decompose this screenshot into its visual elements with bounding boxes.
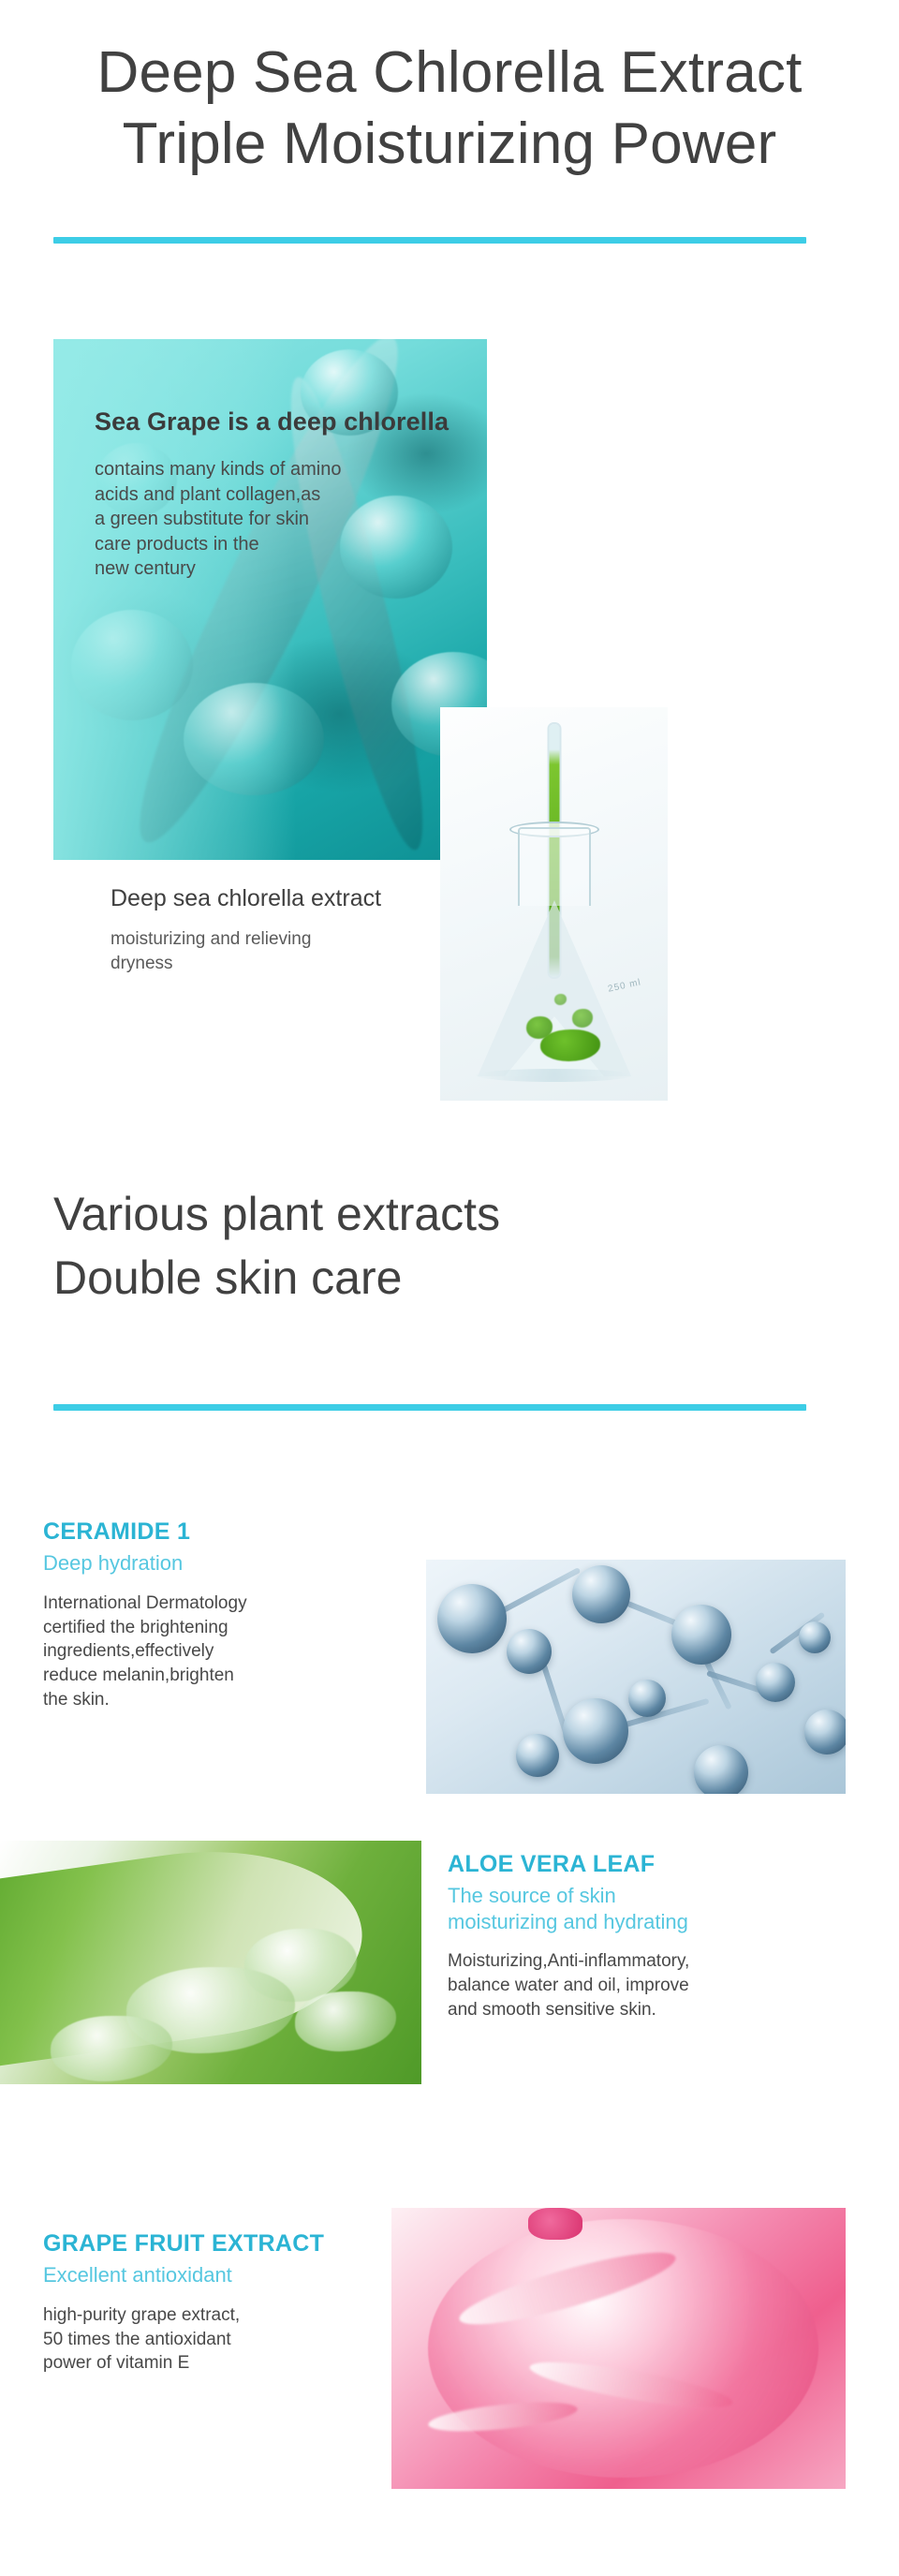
molecule-atom-shape	[694, 1745, 748, 1794]
molecule-atom-shape	[437, 1584, 507, 1653]
section-divider	[53, 1404, 806, 1411]
ingredient-subtitle: The source of skin moisturizing and hydr…	[448, 1883, 841, 1934]
ingredient-subtitle: Excellent antioxidant	[43, 2262, 418, 2288]
ingredient-subtitle: Deep hydration	[43, 1550, 418, 1577]
section-title: Various plant extracts Double skin care	[53, 1182, 821, 1310]
ingredient-name: ALOE VERA LEAF	[448, 1850, 841, 1879]
aloe-vera-leaf-gel-photo	[0, 1841, 421, 2084]
hero-caption-title: Deep sea chlorella extract	[111, 884, 420, 912]
flask-neck-shape	[518, 827, 591, 906]
aloe-gel-shape	[51, 2016, 172, 2081]
ingredient-block-grape-fruit: GRAPE FRUIT EXTRACT Excellent antioxidan…	[43, 2229, 418, 2376]
ingredient-description: high-purity grape extract, 50 times the …	[43, 2303, 418, 2376]
green-extract-droplet	[554, 994, 567, 1005]
ingredient-name: GRAPE FRUIT EXTRACT	[43, 2229, 418, 2258]
molecule-atom-shape	[563, 1698, 628, 1764]
grape-stem-shape	[528, 2208, 582, 2240]
hero-caption-body: moisturizing and relieving dryness	[111, 927, 420, 975]
molecule-structure-photo	[426, 1560, 846, 1794]
page-title: Deep Sea Chlorella Extract Triple Moistu…	[0, 37, 899, 179]
section-title-line-2: Double skin care	[53, 1246, 821, 1310]
molecule-atom-shape	[507, 1629, 552, 1674]
ingredient-name: CERAMIDE 1	[43, 1517, 418, 1547]
ingredient-description: Moisturizing,Anti-inflammatory, balance …	[448, 1949, 841, 2021]
molecule-atom-shape	[799, 1621, 831, 1653]
ingredient-block-ceramide: CERAMIDE 1 Deep hydration International …	[43, 1517, 418, 1712]
pink-grape-gel-texture-photo	[391, 2208, 846, 2489]
section-title-line-1: Various plant extracts	[53, 1182, 821, 1246]
aloe-gel-shape	[295, 1991, 396, 2051]
flask-base-shape	[476, 1069, 633, 1082]
erlenmeyer-flask-green-extract-photo: 250 ml	[440, 707, 668, 1101]
hero-copy-block: Sea Grape is a deep chlorella contains m…	[95, 407, 469, 581]
molecule-atom-shape	[572, 1565, 630, 1623]
hero-heading: Sea Grape is a deep chlorella	[95, 407, 469, 437]
sea-grape-macro-photo: Sea Grape is a deep chlorella contains m…	[53, 339, 487, 860]
molecule-atom-shape	[628, 1680, 666, 1717]
header-divider	[53, 237, 806, 244]
ingredient-block-aloe-vera: ALOE VERA LEAF The source of skin moistu…	[448, 1850, 841, 2022]
hero-caption-block: Deep sea chlorella extract moisturizing …	[111, 884, 420, 975]
molecule-atom-shape	[756, 1663, 795, 1702]
product-infographic-page: Deep Sea Chlorella Extract Triple Moistu…	[0, 0, 899, 2576]
molecule-atom-shape	[804, 1710, 846, 1754]
molecule-atom-shape	[671, 1605, 731, 1665]
page-title-line-2: Triple Moisturizing Power	[0, 109, 899, 180]
ingredient-description: International Dermatology certified the …	[43, 1591, 418, 1712]
hero-body-text: contains many kinds of amino acids and p…	[95, 457, 469, 581]
page-title-line-1: Deep Sea Chlorella Extract	[0, 37, 899, 109]
molecule-atom-shape	[516, 1734, 559, 1777]
